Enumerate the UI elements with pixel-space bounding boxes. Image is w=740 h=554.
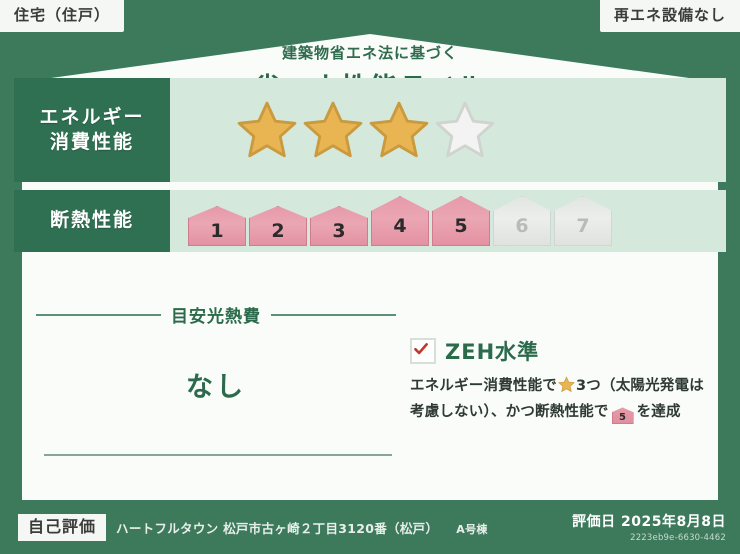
- evaluation-date-value: 2025年8月8日: [621, 514, 726, 530]
- self-evaluation-badge: 自己評価: [18, 514, 106, 541]
- house-icon: 4: [371, 196, 429, 246]
- insulation-performance-row: 断熱性能 1234567: [14, 190, 726, 252]
- zeh-block: ZEH水準 エネルギー消費性能で3つ（太陽光発電は考慮しない）、かつ断熱性能で5…: [396, 296, 704, 500]
- insulation-level-3: 3: [310, 206, 368, 246]
- self-evaluation-label: 自己評価: [28, 517, 96, 536]
- star-rating: [236, 99, 496, 161]
- inline-insulation-badge: 5: [612, 407, 634, 424]
- lower-section: 目安光熱費 なし ZEH水準 エネルギー消費性能で3つ（太陽光発電は考慮しない）…: [22, 296, 718, 500]
- insulation-level-5: 5: [432, 196, 490, 246]
- property-address: ハートフルタウン 松戸市古ヶ崎２丁目3120番（松戸）A号棟: [116, 518, 572, 537]
- house-icon: 6: [493, 196, 551, 246]
- check-icon: [413, 341, 429, 357]
- evaluation-date-row: 評価日 2025年8月8日: [572, 511, 726, 531]
- renewable-energy-label: 再エネ設備なし: [614, 6, 726, 24]
- utility-cost-title: 目安光熱費: [171, 302, 261, 327]
- housing-type-label: 住宅（住戸）: [14, 6, 110, 24]
- insulation-level-number: 5: [454, 215, 467, 237]
- star-filled-icon: [368, 99, 430, 161]
- energy-label-line2: 消費性能: [50, 130, 134, 155]
- evaluation-date-label: 評価日: [572, 514, 616, 530]
- house-icon: 2: [249, 206, 307, 246]
- insulation-level-4: 4: [371, 196, 429, 246]
- energy-performance-label: エネルギー 消費性能: [14, 78, 170, 182]
- zeh-desc-part2: 3つ（太陽光発電: [576, 378, 689, 394]
- evaluation-meta: 評価日 2025年8月8日 2223eb9e-6630-4462: [572, 511, 726, 543]
- insulation-level-7: 7: [554, 196, 612, 246]
- energy-performance-row: エネルギー 消費性能: [14, 78, 726, 182]
- insulation-label-text: 断熱性能: [50, 208, 134, 233]
- footer: 自己評価 ハートフルタウン 松戸市古ヶ崎２丁目3120番（松戸）A号棟 評価日 …: [0, 500, 740, 554]
- insulation-performance-label: 断熱性能: [14, 190, 170, 252]
- title-subtitle: 建築物省エネ法に基づく: [0, 42, 740, 63]
- zeh-description: エネルギー消費性能で3つ（太陽光発電は考慮しない）、かつ断熱性能で5を達成: [410, 375, 704, 425]
- insulation-level-number: 3: [332, 220, 345, 242]
- utility-cost-header: 目安光熱費: [36, 302, 396, 327]
- zeh-desc-part1: エネルギー消費性能で: [410, 378, 557, 394]
- utility-cost-block: 目安光熱費 なし: [36, 296, 396, 500]
- star-filled-icon: [302, 99, 364, 161]
- cost-rule-right: [271, 314, 396, 316]
- insulation-level-number: 4: [393, 215, 406, 237]
- insulation-level-number: 1: [210, 220, 223, 242]
- zeh-header: ZEH水準: [410, 336, 704, 366]
- zeh-checkbox[interactable]: [410, 338, 436, 364]
- insulation-performance-value: 1234567: [170, 190, 726, 252]
- house-icon: 7: [554, 196, 612, 246]
- evaluation-id: 2223eb9e-6630-4462: [572, 533, 726, 543]
- insulation-level-scale: 1234567: [188, 196, 612, 246]
- property-address-text: ハートフルタウン 松戸市古ヶ崎２丁目3120番（松戸）: [116, 521, 438, 536]
- star-filled-icon: [236, 99, 298, 161]
- house-icon: 1: [188, 206, 246, 246]
- house-icon: 5: [432, 196, 490, 246]
- insulation-level-number: 7: [576, 215, 589, 237]
- house-icon: 3: [310, 206, 368, 246]
- zeh-title: ZEH水準: [445, 336, 539, 366]
- utility-cost-value: なし: [36, 365, 396, 404]
- zeh-desc-part4: を達成: [637, 404, 681, 420]
- insulation-level-2: 2: [249, 206, 307, 246]
- property-unit: A号棟: [456, 523, 487, 536]
- star-empty-icon: [434, 99, 496, 161]
- utility-cost-divider: [44, 454, 392, 456]
- insulation-level-6: 6: [493, 196, 551, 246]
- ratings-section: エネルギー 消費性能 断熱性能 1234567: [0, 78, 740, 260]
- cost-rule-left: [36, 314, 161, 316]
- inline-insulation-badge-value: 5: [613, 408, 633, 428]
- insulation-level-number: 2: [271, 220, 284, 242]
- renewable-energy-badge: 再エネ設備なし: [600, 0, 740, 32]
- energy-label-line1: エネルギー: [39, 105, 144, 130]
- energy-performance-value: [170, 78, 726, 182]
- housing-type-badge: 住宅（住戸）: [0, 0, 124, 32]
- insulation-level-number: 6: [515, 215, 528, 237]
- inline-star-icon: [558, 376, 575, 401]
- insulation-level-1: 1: [188, 206, 246, 246]
